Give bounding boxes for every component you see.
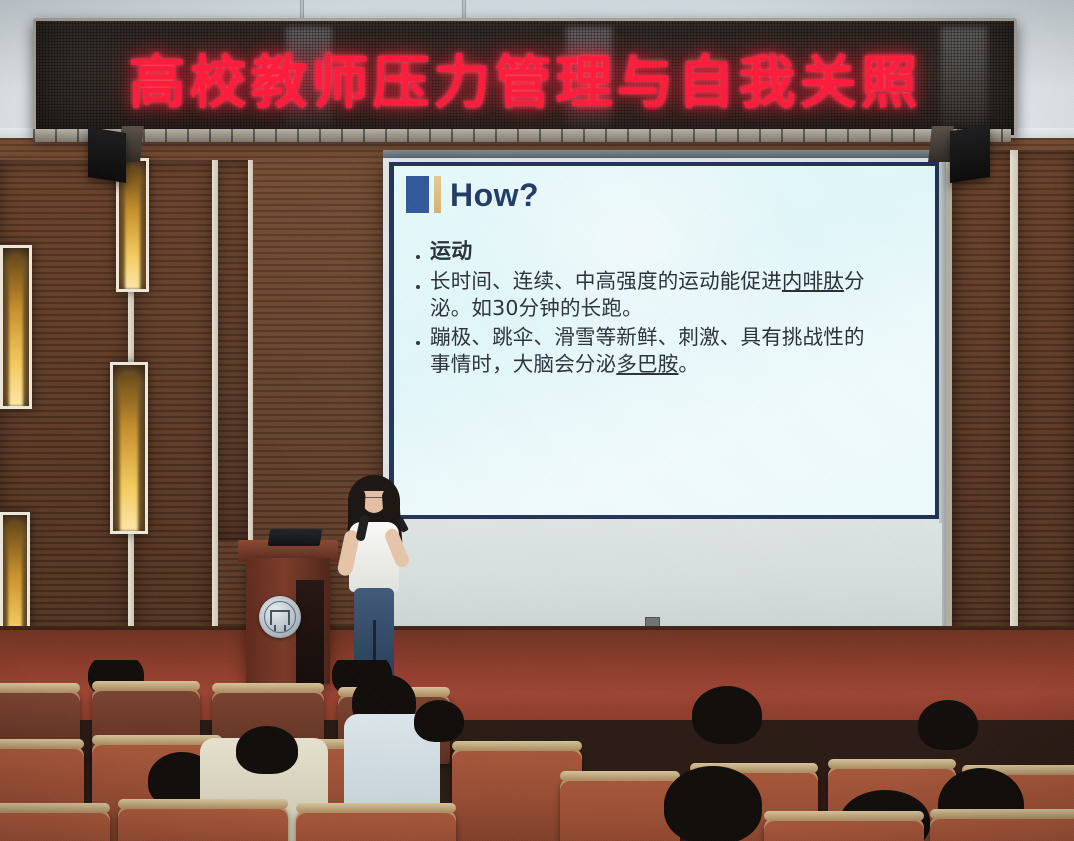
led-banner-bottom-trim [33,129,1011,142]
seat-back [560,778,680,841]
laptop-icon [268,529,323,546]
seat-back-front [764,818,924,841]
slide-text-segment: 。 [678,352,699,376]
ding-vessel-icon [270,610,290,625]
slide-text-segment: 蹦极、跳伞、滑雪等新鲜、刺激、具有挑战性的 [430,325,865,349]
slide-bullet-line: 运动 [430,238,472,266]
seat-back-front [118,806,288,841]
screen-lower-blank-area [389,523,942,630]
lecture-hall-photo: How? 运动长时间、连续、中高强度的运动能促进内啡肽分泌。如30分钟的长跑。蹦… [0,0,1074,841]
wall-panel-right-b [1018,150,1074,670]
slide-term-underlined: 多巴胺 [616,352,678,376]
slide-title-row: How? [406,176,539,213]
university-seal-emblem [259,596,301,638]
slide-accent-bar-icon [434,176,441,213]
wall-panel-trim [946,150,952,670]
light-slot-glow [9,257,24,406]
slide-bullet-list: 运动长时间、连续、中高强度的运动能促进内啡肽分泌。如30分钟的长跑。蹦极、跳伞、… [416,238,917,380]
wall-light-slot [0,245,32,409]
slide-text-segment: 分 [844,269,865,293]
led-banner-text: 高校教师压力管理与自我关照 [36,37,1014,119]
bullet-dot-icon [416,341,420,345]
slide-bullet: 蹦极、跳伞、滑雪等新鲜、刺激、具有挑战性的事情时，大脑会分泌多巴胺。 [416,324,917,378]
wall-panel-trim [212,160,218,670]
audience-head [414,700,464,742]
seat-back-front [0,810,110,841]
slide-term-underlined: 内啡肽 [782,269,844,293]
presentation-slide: How? 运动长时间、连续、中高强度的运动能促进内啡肽分泌。如30分钟的长跑。蹦… [389,162,939,519]
bullet-dot-icon [416,285,420,289]
ceiling-speaker-left [88,127,126,183]
slide-text-segment: 长时间、连续、中高强度的运动能促进 [430,269,782,293]
slide-accent-block-icon [406,176,429,213]
slide-text-segment: 运动 [430,239,472,263]
slide-bullet: 长时间、连续、中高强度的运动能促进内啡肽分泌。如30分钟的长跑。 [416,268,917,322]
audience-area [0,660,1074,841]
seat-back-front [930,816,1074,841]
slide-bullet-line: 蹦极、跳伞、滑雪等新鲜、刺激、具有挑战性的 [430,324,865,351]
slide-text-segment: 事情时，大脑会分泌 [430,352,616,376]
seat-back-front [296,810,456,841]
light-slot-glow [125,169,140,289]
slide-bullet-line: 长时间、连续、中高强度的运动能促进内啡肽分 [430,268,865,295]
audience-head [664,766,762,841]
bullet-dot-icon [416,255,420,259]
audience-head [236,726,298,774]
wall-panel-right-a [952,150,1010,670]
slide-bullet-text: 长时间、连续、中高强度的运动能促进内啡肽分泌。如30分钟的长跑。 [430,268,865,322]
slide-bullet-line: 泌。如30分钟的长跑。 [430,295,865,322]
ceiling-speaker-right [950,125,990,183]
slide-title: How? [450,179,539,211]
led-banner: 高校教师压力管理与自我关照 [33,18,1017,138]
wall-panel-trim [248,160,253,540]
slide-text-segment: 泌。如30分钟的长跑。 [430,296,643,320]
slide-bullet-text: 运动 [430,238,472,266]
wall-light-slot [110,362,148,534]
audience-head [918,700,978,750]
audience-head [692,686,762,744]
light-slot-glow [120,375,138,531]
emblem-ring [264,601,296,633]
wall-panel-left-c [218,160,248,540]
slide-bullet-line: 事情时，大脑会分泌多巴胺。 [430,351,865,378]
slide-bullet: 运动 [416,238,917,266]
slide-bullet-text: 蹦极、跳伞、滑雪等新鲜、刺激、具有挑战性的事情时，大脑会分泌多巴胺。 [430,324,865,378]
wall-panel-trim [1010,150,1018,670]
